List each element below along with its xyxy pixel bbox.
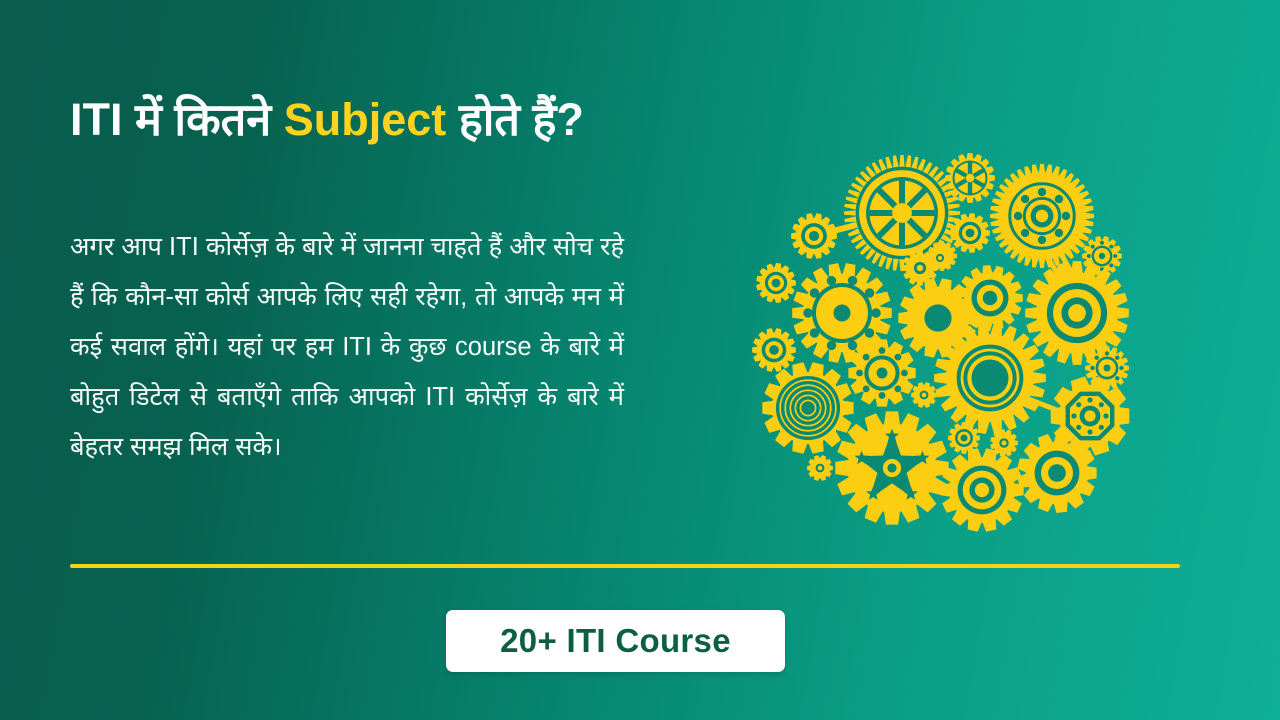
gear: [762, 362, 853, 454]
poster-canvas: ITI में कितने Subject होते हैं? अगर आप I…: [0, 0, 1280, 720]
title-part-before: ITI में कितने: [70, 94, 284, 145]
gear: [756, 263, 796, 303]
gear: [928, 246, 952, 270]
title-part-after: होते हैं?: [446, 94, 584, 145]
gear: [791, 213, 837, 259]
horizontal-divider: [70, 564, 1180, 568]
page-title: ITI में कितने Subject होते हैं?: [70, 92, 830, 148]
gear-cluster-illustration: [742, 138, 1152, 513]
gear: [807, 455, 833, 481]
gear: [911, 382, 937, 408]
title-highlight-subject: Subject: [284, 94, 447, 145]
gear: [835, 411, 948, 524]
body-paragraph: अगर आप ITI कोर्सेज़ के बारे में जानना चा…: [70, 222, 624, 472]
gear: [940, 448, 1023, 532]
cta-button-label: 20+ ITI Course: [500, 622, 731, 660]
gear: [945, 153, 995, 203]
gear: [990, 164, 1094, 268]
cta-button[interactable]: 20+ ITI Course: [446, 610, 785, 672]
gear: [752, 328, 796, 372]
gear: [950, 213, 990, 253]
